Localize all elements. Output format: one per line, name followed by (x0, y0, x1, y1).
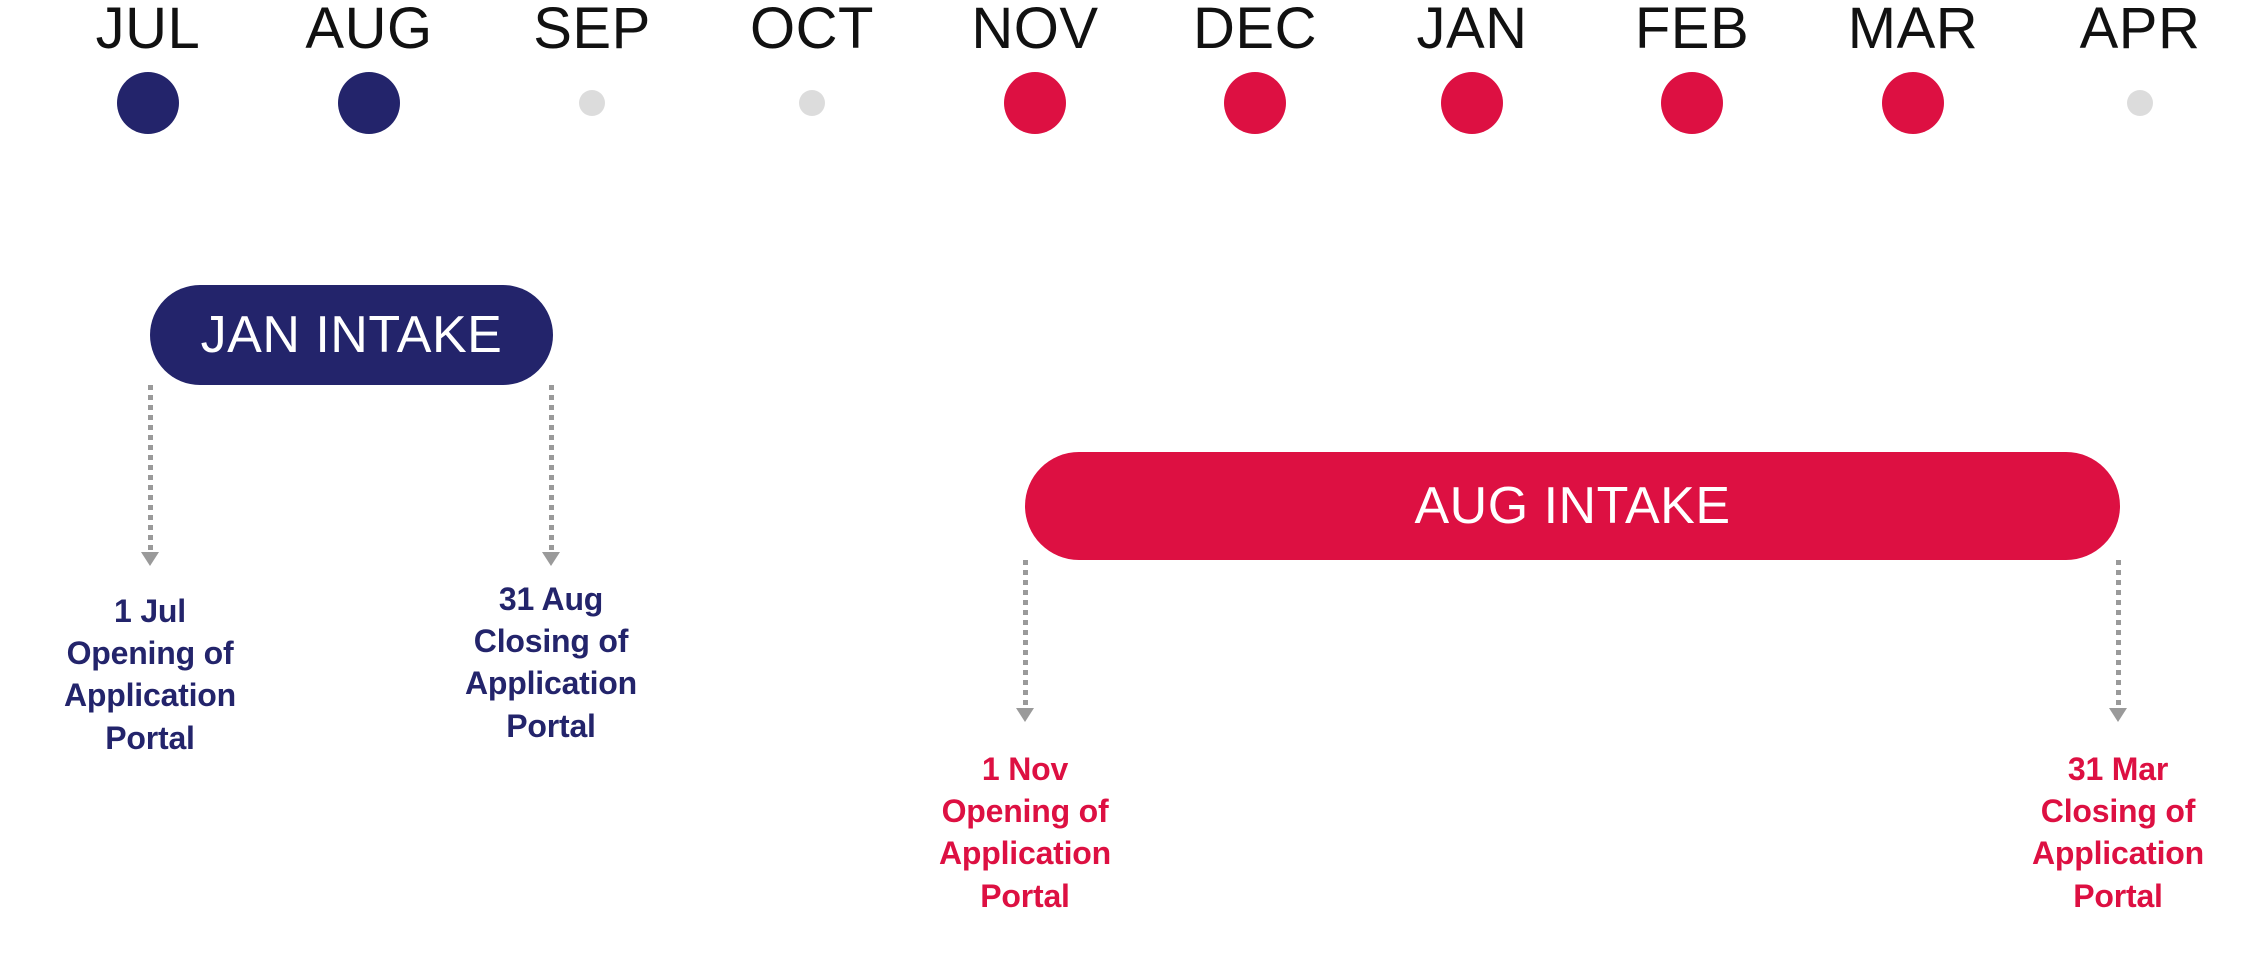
milestone-caption-aug-intake-start: 1 NovOpening ofApplicationPortal (875, 748, 1175, 917)
connector-line-aug-intake-start (1023, 560, 1028, 708)
connector-line-jan-intake-start (148, 385, 153, 552)
intake-pill-jan-intake[interactable]: JAN INTAKE (150, 285, 553, 385)
month-dot-wrapper (702, 58, 922, 148)
month-label: JUL (38, 0, 258, 58)
milestone-caption-line: Application (0, 674, 300, 716)
timeline-infographic: JULAUGSEPOCTNOVDECJANFEBMARAPR JAN INTAK… (0, 0, 2245, 960)
month-label: OCT (702, 0, 922, 58)
month-dot-wrapper (2030, 58, 2245, 148)
month-status-dot-jan (1441, 72, 1503, 134)
month-dot-wrapper (925, 58, 1145, 148)
month-column-jan: JAN (1362, 0, 1582, 148)
month-label: FEB (1582, 0, 1802, 58)
month-label: AUG (259, 0, 479, 58)
milestone-caption-line: Opening of (875, 790, 1175, 832)
intake-pill-aug-intake[interactable]: AUG INTAKE (1025, 452, 2120, 560)
month-dot-wrapper (1582, 58, 1802, 148)
milestone-caption-aug-intake-end: 31 MarClosing ofApplicationPortal (1968, 748, 2245, 917)
milestone-caption-jan-intake-start: 1 JulOpening ofApplicationPortal (0, 590, 300, 759)
month-status-dot-mar (1882, 72, 1944, 134)
month-dot-wrapper (1145, 58, 1365, 148)
month-status-dot-apr (2127, 90, 2153, 116)
milestone-caption-jan-intake-end: 31 AugClosing ofApplicationPortal (401, 578, 701, 747)
milestone-caption-line: Portal (875, 875, 1175, 917)
milestone-caption-line: Application (1968, 832, 2245, 874)
month-dot-wrapper (1803, 58, 2023, 148)
milestone-caption-line: Portal (401, 705, 701, 747)
month-column-nov: NOV (925, 0, 1145, 148)
connector-line-aug-intake-end (2116, 560, 2121, 708)
month-dot-wrapper (1362, 58, 1582, 148)
month-column-feb: FEB (1582, 0, 1802, 148)
month-column-dec: DEC (1145, 0, 1365, 148)
month-status-dot-nov (1004, 72, 1066, 134)
month-label: SEP (482, 0, 702, 58)
month-column-apr: APR (2030, 0, 2245, 148)
milestone-caption-line: Closing of (1968, 790, 2245, 832)
month-label: NOV (925, 0, 1145, 58)
connector-arrow-icon-jan-intake-end (542, 552, 560, 566)
month-status-dot-sep (579, 90, 605, 116)
connector-arrow-icon-aug-intake-start (1016, 708, 1034, 722)
intake-pill-label: JAN INTAKE (201, 305, 503, 365)
month-column-mar: MAR (1803, 0, 2023, 148)
milestone-caption-line: 31 Aug (401, 578, 701, 620)
milestone-caption-line: Application (875, 832, 1175, 874)
month-label: MAR (1803, 0, 2023, 58)
month-status-dot-aug (338, 72, 400, 134)
milestone-caption-line: Closing of (401, 620, 701, 662)
month-label: DEC (1145, 0, 1365, 58)
milestone-caption-line: Application (401, 662, 701, 704)
month-dot-wrapper (38, 58, 258, 148)
month-dot-wrapper (482, 58, 702, 148)
milestone-caption-line: Portal (0, 717, 300, 759)
milestone-caption-line: Portal (1968, 875, 2245, 917)
intake-pill-label: AUG INTAKE (1414, 476, 1730, 536)
connector-arrow-icon-jan-intake-start (141, 552, 159, 566)
month-status-dot-jul (117, 72, 179, 134)
month-column-oct: OCT (702, 0, 922, 148)
milestone-caption-line: 1 Nov (875, 748, 1175, 790)
month-label: APR (2030, 0, 2245, 58)
connector-arrow-icon-aug-intake-end (2109, 708, 2127, 722)
month-column-sep: SEP (482, 0, 702, 148)
month-column-aug: AUG (259, 0, 479, 148)
month-column-jul: JUL (38, 0, 258, 148)
month-status-dot-oct (799, 90, 825, 116)
month-status-dot-feb (1661, 72, 1723, 134)
month-status-dot-dec (1224, 72, 1286, 134)
milestone-caption-line: 31 Mar (1968, 748, 2245, 790)
milestone-caption-line: 1 Jul (0, 590, 300, 632)
month-label: JAN (1362, 0, 1582, 58)
month-dot-wrapper (259, 58, 479, 148)
connector-line-jan-intake-end (549, 385, 554, 552)
milestone-caption-line: Opening of (0, 632, 300, 674)
